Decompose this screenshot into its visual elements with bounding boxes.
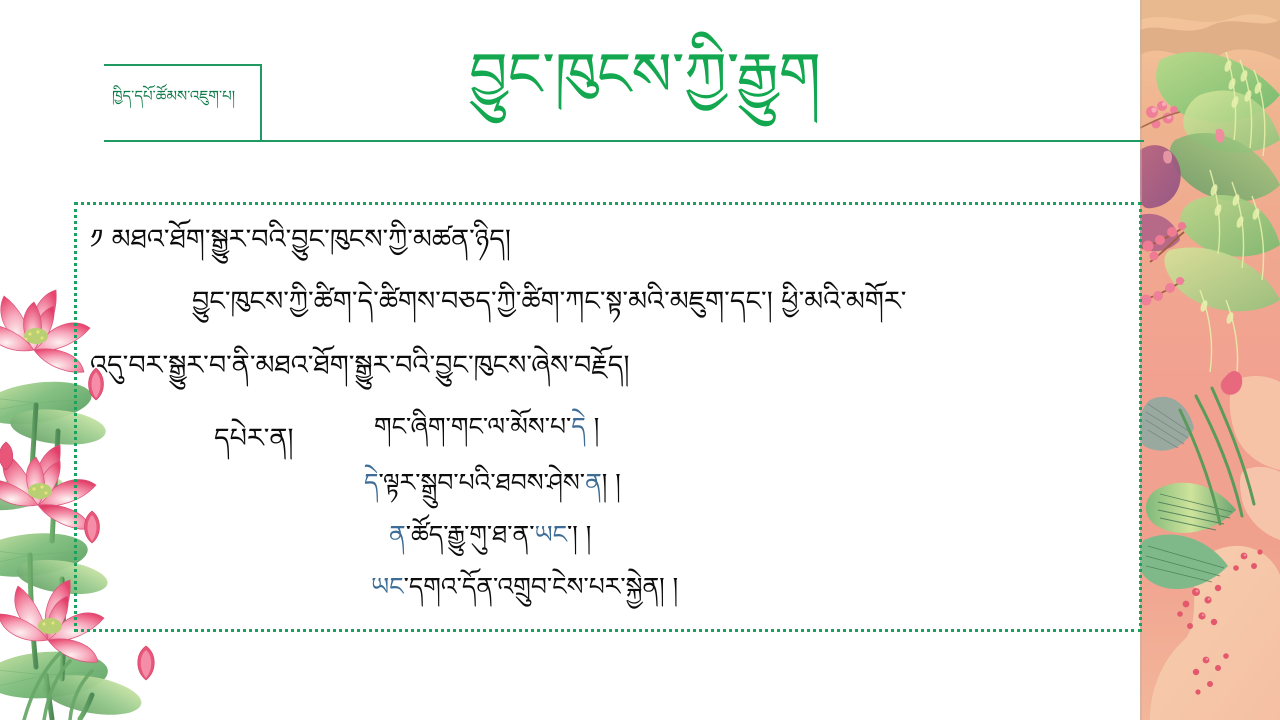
body-paragraph-3: འདུ་བར་སྒྱུར་བ་ནི་མཐའ་ཐོག་སྒྱུར་བའི་བྱུང… xyxy=(90,344,629,388)
body-paragraph-1: ༡ མཐའ་ཐོག་སྒྱུར་བའི་བྱུང་ཁུངས་ཀྱི་མཚན་ཉི… xyxy=(90,218,511,262)
page-title: བྱུང་ཁུངས་ཀྱི་རྒྱུག xyxy=(430,44,860,107)
verse-line-2: དེ་ལྟར་སྒྲུབ་པའི་ཐབས་ཤེས་ན། ། xyxy=(364,464,621,503)
verse-text: ། ། xyxy=(602,468,621,497)
verse-text: ་ཚོད་རྒྱུ་གུ་ཐ་ན་ xyxy=(406,520,535,549)
verse-line-1: གང་ཞིག་གང་ལ་མོས་པ་དེ ། xyxy=(374,408,599,447)
highlighted-syllable: དེ xyxy=(571,412,585,441)
verse-text: གང་ཞིག་གང་ལ་མོས་པ་ xyxy=(374,412,571,441)
slide-canvas: ཁྱིད་དཔོ་ཚོམས་འཇུག་པ། བྱུང་ཁུངས་ཀྱི་རྒྱུ… xyxy=(0,0,1280,720)
header-tab-label: ཁྱིད་དཔོ་ཚོམས་འཇུག་པ། xyxy=(112,88,262,105)
highlighted-syllable: ན xyxy=(585,468,602,497)
verse-text: ་དགའ་དོན་འགྲུབ་ངེས་པར་སྐྱེན། ། xyxy=(404,572,679,601)
right-decoration-art xyxy=(1140,0,1280,720)
header-horizontal-rule xyxy=(104,140,1144,142)
verse-text: ་། ། xyxy=(567,520,591,549)
verse-line-4: ཡང་དགའ་དོན་འགྲུབ་ངེས་པར་སྐྱེན། ། xyxy=(371,568,678,607)
verse-line-3: ན་ཚོད་རྒྱུ་གུ་ཐ་ན་ཡང་། ། xyxy=(389,516,591,555)
highlighted-syllable: ཡང xyxy=(534,520,567,549)
body-paragraph-2: བྱུང་ཁུངས་ཀྱི་ཚིག་དེ་ཚིགས་བཅད་ཀྱི་ཚིག་ཀང… xyxy=(192,280,906,324)
verse-text: ་ལྟར་སྒྲུབ་པའི་ཐབས་ཤེས་ xyxy=(378,468,585,497)
example-label: དཔེར་ན། xyxy=(214,408,293,484)
highlighted-syllable: ན xyxy=(389,520,406,549)
highlighted-syllable: ཡང xyxy=(371,572,404,601)
verse-text: ། xyxy=(586,412,600,441)
highlighted-syllable: དེ xyxy=(364,468,378,497)
content-body: ༡ མཐའ་ཐོག་སྒྱུར་བའི་བྱུང་ཁུངས་ཀྱི་མཚན་ཉི… xyxy=(74,202,1142,632)
